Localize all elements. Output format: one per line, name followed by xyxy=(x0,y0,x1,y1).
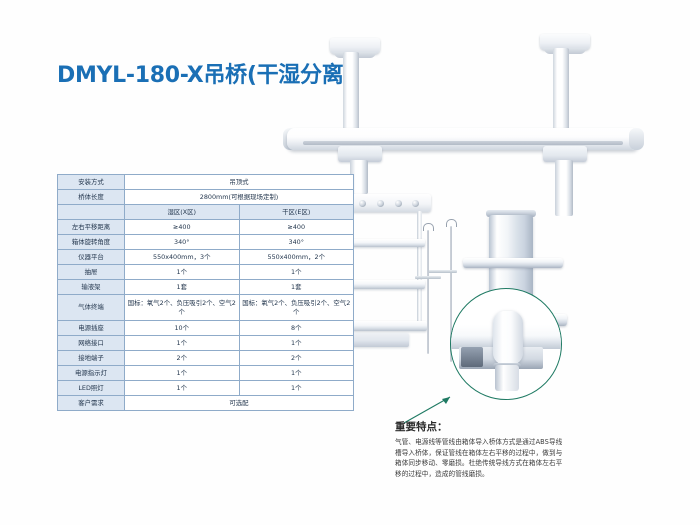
row-value-dry: 国标：氧气2个、负压吸引2个、空气2个 xyxy=(239,295,354,321)
row-label: LED照灯 xyxy=(58,381,125,396)
row-label: 桥体长度 xyxy=(58,190,125,205)
feature-note-line: 箱体同步移动、零磨损。杜绝传统导线方式在箱体左右平 xyxy=(395,458,595,469)
row-value-dry: 1个 xyxy=(239,265,354,280)
row-label: 安装方式 xyxy=(58,175,125,190)
row-label: 抽屉 xyxy=(58,265,125,280)
row-value-dry: 1套 xyxy=(239,280,354,295)
gas-outlet-icon xyxy=(412,200,419,207)
row-value-span: 可选配 xyxy=(125,396,354,411)
row-label: 箱体旋转角度 xyxy=(58,235,125,250)
row-value-dry: 550x400mm，2个 xyxy=(239,250,354,265)
right-instrument-platform-top xyxy=(463,258,563,268)
table-row: 安装方式 吊顶式 xyxy=(58,175,354,190)
inset-shaft-stub xyxy=(495,365,519,391)
feature-note-title: 重要特点： xyxy=(395,419,595,434)
feature-note: 重要特点： 气管、电源线等管线由箱体导入桥体方式是通过ABS导线 槽导入桥体，保… xyxy=(395,419,595,480)
row-value-dry: 2个 xyxy=(239,351,354,366)
gas-outlet-icon xyxy=(377,200,384,207)
row-value-wet: 1个 xyxy=(125,366,240,381)
row-value-wet: 2个 xyxy=(125,351,240,366)
row-label: 仪器平台 xyxy=(58,250,125,265)
gas-outlet-icon xyxy=(359,200,366,207)
table-row: 电源指示灯 1个 1个 xyxy=(58,366,354,381)
row-label: 左右平移距离 xyxy=(58,220,125,235)
inset-carriage-knuckle xyxy=(493,311,523,365)
table-row: 气体终端 国标：氧气2个、负压吸引2个、空气2个 国标：氧气2个、负压吸引2个、… xyxy=(58,295,354,321)
row-value-wet: 1个 xyxy=(125,336,240,351)
feature-note-line: 移的过程中，造成的管线磨损。 xyxy=(395,469,595,480)
row-label: 气体终端 xyxy=(58,295,125,321)
ceiling-drop-column-left xyxy=(343,52,359,132)
right-iv-pole-clamp xyxy=(415,276,441,279)
row-label: 接地端子 xyxy=(58,351,125,366)
row-label: 网络接口 xyxy=(58,336,125,351)
table-row: 仪器平台 550x400mm，3个 550x400mm，2个 xyxy=(58,250,354,265)
row-value-wet: 340° xyxy=(125,235,240,250)
row-label xyxy=(58,205,125,220)
row-value-wet: 550x400mm，3个 xyxy=(125,250,240,265)
row-value-wet: ≥400 xyxy=(125,220,240,235)
right-iv-pole xyxy=(427,230,429,354)
table-row: 接地端子 2个 2个 xyxy=(58,351,354,366)
row-value-wet: 国标：氧气2个、负压吸引2个、空气2个 xyxy=(125,295,240,321)
iv-pole-hook-icon xyxy=(446,219,457,227)
right-iv-pole-hook-icon xyxy=(423,223,434,231)
specification-table: 安装方式 吊顶式 桥体长度 2800mm(可根据现场定制) 湿区(X区) 干区(… xyxy=(57,174,354,411)
feature-note-line: 气管、电源线等管线由箱体导入桥体方式是通过ABS导线 xyxy=(395,437,595,448)
row-label: 电源插座 xyxy=(58,321,125,336)
ceiling-drop-column-right xyxy=(553,48,569,132)
row-value-dry: ≥400 xyxy=(239,220,354,235)
detail-inset-circle xyxy=(450,288,562,400)
row-value-span: 2800mm(可根据现场定制) xyxy=(125,190,354,205)
table-row: 网络接口 1个 1个 xyxy=(58,336,354,351)
zone-header-wet: 湿区(X区) xyxy=(125,205,240,220)
zone-header-dry: 干区(E区) xyxy=(239,205,354,220)
row-value-dry: 8个 xyxy=(239,321,354,336)
row-value-dry: 1个 xyxy=(239,336,354,351)
table-row: 桥体长度 2800mm(可根据现场定制) xyxy=(58,190,354,205)
table-row: 箱体旋转角度 340° 340° xyxy=(58,235,354,250)
row-label: 电源指示灯 xyxy=(58,366,125,381)
poster-canvas: DMYL-180-X吊桥(干湿分离) xyxy=(0,0,700,525)
table-row: 左右平移距离 ≥400 ≥400 xyxy=(58,220,354,235)
gas-outlet-icon xyxy=(395,200,402,207)
table-row: 客户需求 可选配 xyxy=(58,396,354,411)
row-label: 客户需求 xyxy=(58,396,125,411)
inset-bracket-shadow xyxy=(461,347,483,367)
table-row: 输液架 1套 1套 xyxy=(58,280,354,295)
row-value-wet: 1套 xyxy=(125,280,240,295)
row-value-wet: 1个 xyxy=(125,265,240,280)
iv-pole-clamp xyxy=(427,270,457,273)
left-pendant-post-back xyxy=(417,211,422,329)
row-value-wet: 10个 xyxy=(125,321,240,336)
table-body: 安装方式 吊顶式 桥体长度 2800mm(可根据现场定制) 湿区(X区) 干区(… xyxy=(58,175,354,411)
feature-note-line: 槽导入桥体，保证管线在箱体左右平移的过程中，做到与 xyxy=(395,448,595,459)
table-row: 抽屉 1个 1个 xyxy=(58,265,354,280)
table-row-zone-header: 湿区(X区) 干区(E区) xyxy=(58,205,354,220)
table-row: 电源插座 10个 8个 xyxy=(58,321,354,336)
table-row: LED照灯 1个 1个 xyxy=(58,381,354,396)
row-value-dry: 1个 xyxy=(239,366,354,381)
beam-end-cap-right xyxy=(629,128,644,150)
vertical-shaft-right xyxy=(555,160,573,216)
feature-note-body: 气管、电源线等管线由箱体导入桥体方式是通过ABS导线 槽导入桥体，保证管线在箱体… xyxy=(395,437,595,480)
row-value-span: 吊顶式 xyxy=(125,175,354,190)
row-value-dry: 1个 xyxy=(239,381,354,396)
row-label: 输液架 xyxy=(58,280,125,295)
row-value-wet: 1个 xyxy=(125,381,240,396)
row-value-dry: 340° xyxy=(239,235,354,250)
